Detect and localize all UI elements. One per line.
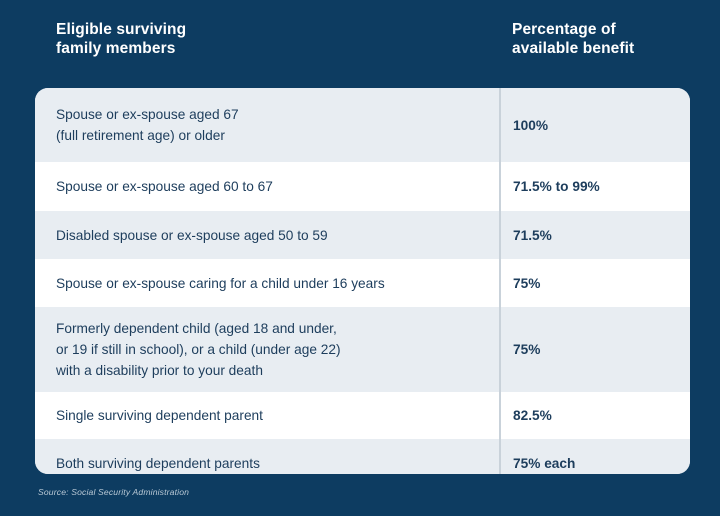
row-description-line: or 19 if still in school), or a child (u… bbox=[56, 339, 489, 360]
header-right-line1: Percentage of bbox=[512, 20, 690, 39]
benefits-table-card: Spouse or ex-spouse aged 67 (full retire… bbox=[35, 88, 690, 474]
row-description: Spouse or ex-spouse caring for a child u… bbox=[35, 273, 499, 294]
row-description-line: Single surviving dependent parent bbox=[56, 405, 489, 426]
row-percentage: 71.5% bbox=[499, 225, 690, 246]
table-row: Formerly dependent child (aged 18 and un… bbox=[35, 307, 690, 392]
row-description: Spouse or ex-spouse aged 60 to 67 bbox=[35, 176, 499, 197]
row-description-line: Spouse or ex-spouse caring for a child u… bbox=[56, 273, 489, 294]
header-left-line2: family members bbox=[56, 39, 500, 58]
row-percentage: 100% bbox=[499, 115, 690, 136]
row-description: Both surviving dependent parents bbox=[35, 453, 499, 474]
row-percentage: 75% bbox=[499, 273, 690, 294]
row-description: Single surviving dependent parent bbox=[35, 405, 499, 426]
table-row: Both surviving dependent parents 75% eac… bbox=[35, 439, 690, 474]
header-column-percentage: Percentage of available benefit bbox=[500, 20, 690, 80]
row-description-line: (full retirement age) or older bbox=[56, 125, 489, 146]
table-header: Eligible surviving family members Percen… bbox=[35, 20, 690, 80]
row-percentage: 75% bbox=[499, 339, 690, 360]
table-row: Spouse or ex-spouse aged 60 to 67 71.5% … bbox=[35, 162, 690, 211]
column-divider bbox=[499, 88, 501, 474]
row-description-line: Spouse or ex-spouse aged 60 to 67 bbox=[56, 176, 489, 197]
header-left-line1: Eligible surviving bbox=[56, 20, 500, 39]
row-description-line: Disabled spouse or ex-spouse aged 50 to … bbox=[56, 225, 489, 246]
row-percentage: 82.5% bbox=[499, 405, 690, 426]
table-row: Spouse or ex-spouse aged 67 (full retire… bbox=[35, 88, 690, 162]
row-description-line: with a disability prior to your death bbox=[56, 360, 489, 381]
row-description-line: Spouse or ex-spouse aged 67 bbox=[56, 104, 489, 125]
table-row: Single surviving dependent parent 82.5% bbox=[35, 392, 690, 439]
row-description: Spouse or ex-spouse aged 67 (full retire… bbox=[35, 104, 499, 146]
row-percentage: 75% each bbox=[499, 453, 690, 474]
row-description: Formerly dependent child (aged 18 and un… bbox=[35, 318, 499, 381]
benefits-infographic: Eligible surviving family members Percen… bbox=[0, 0, 720, 516]
row-description-line: Formerly dependent child (aged 18 and un… bbox=[56, 318, 489, 339]
row-percentage: 71.5% to 99% bbox=[499, 176, 690, 197]
header-column-eligible-members: Eligible surviving family members bbox=[35, 20, 500, 80]
row-description: Disabled spouse or ex-spouse aged 50 to … bbox=[35, 225, 499, 246]
row-description-line: Both surviving dependent parents bbox=[56, 453, 489, 474]
header-right-line2: available benefit bbox=[512, 39, 690, 58]
source-note: Source: Social Security Administration bbox=[38, 487, 189, 497]
table-row: Spouse or ex-spouse caring for a child u… bbox=[35, 259, 690, 307]
table-row: Disabled spouse or ex-spouse aged 50 to … bbox=[35, 211, 690, 259]
